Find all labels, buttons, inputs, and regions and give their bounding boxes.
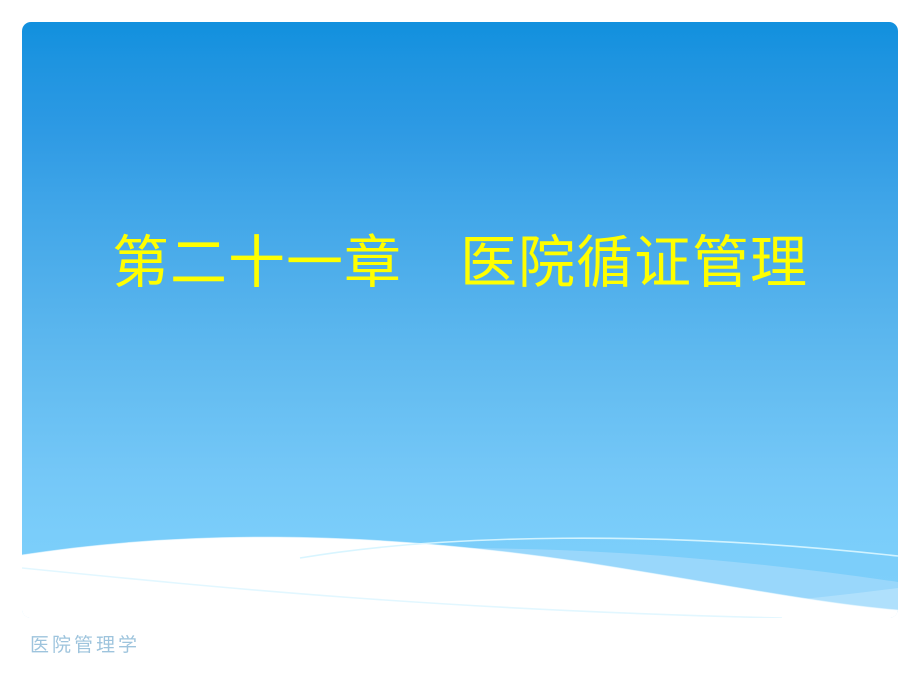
decorative-wave-graphic — [22, 22, 898, 618]
slide-title: 第二十一章 医院循证管理 — [60, 232, 860, 296]
presentation-slide: 第二十一章 医院循证管理 医院管理学 — [0, 0, 920, 690]
slide-footer-text: 医院管理学 — [30, 634, 140, 657]
slide-background-panel — [22, 22, 898, 618]
